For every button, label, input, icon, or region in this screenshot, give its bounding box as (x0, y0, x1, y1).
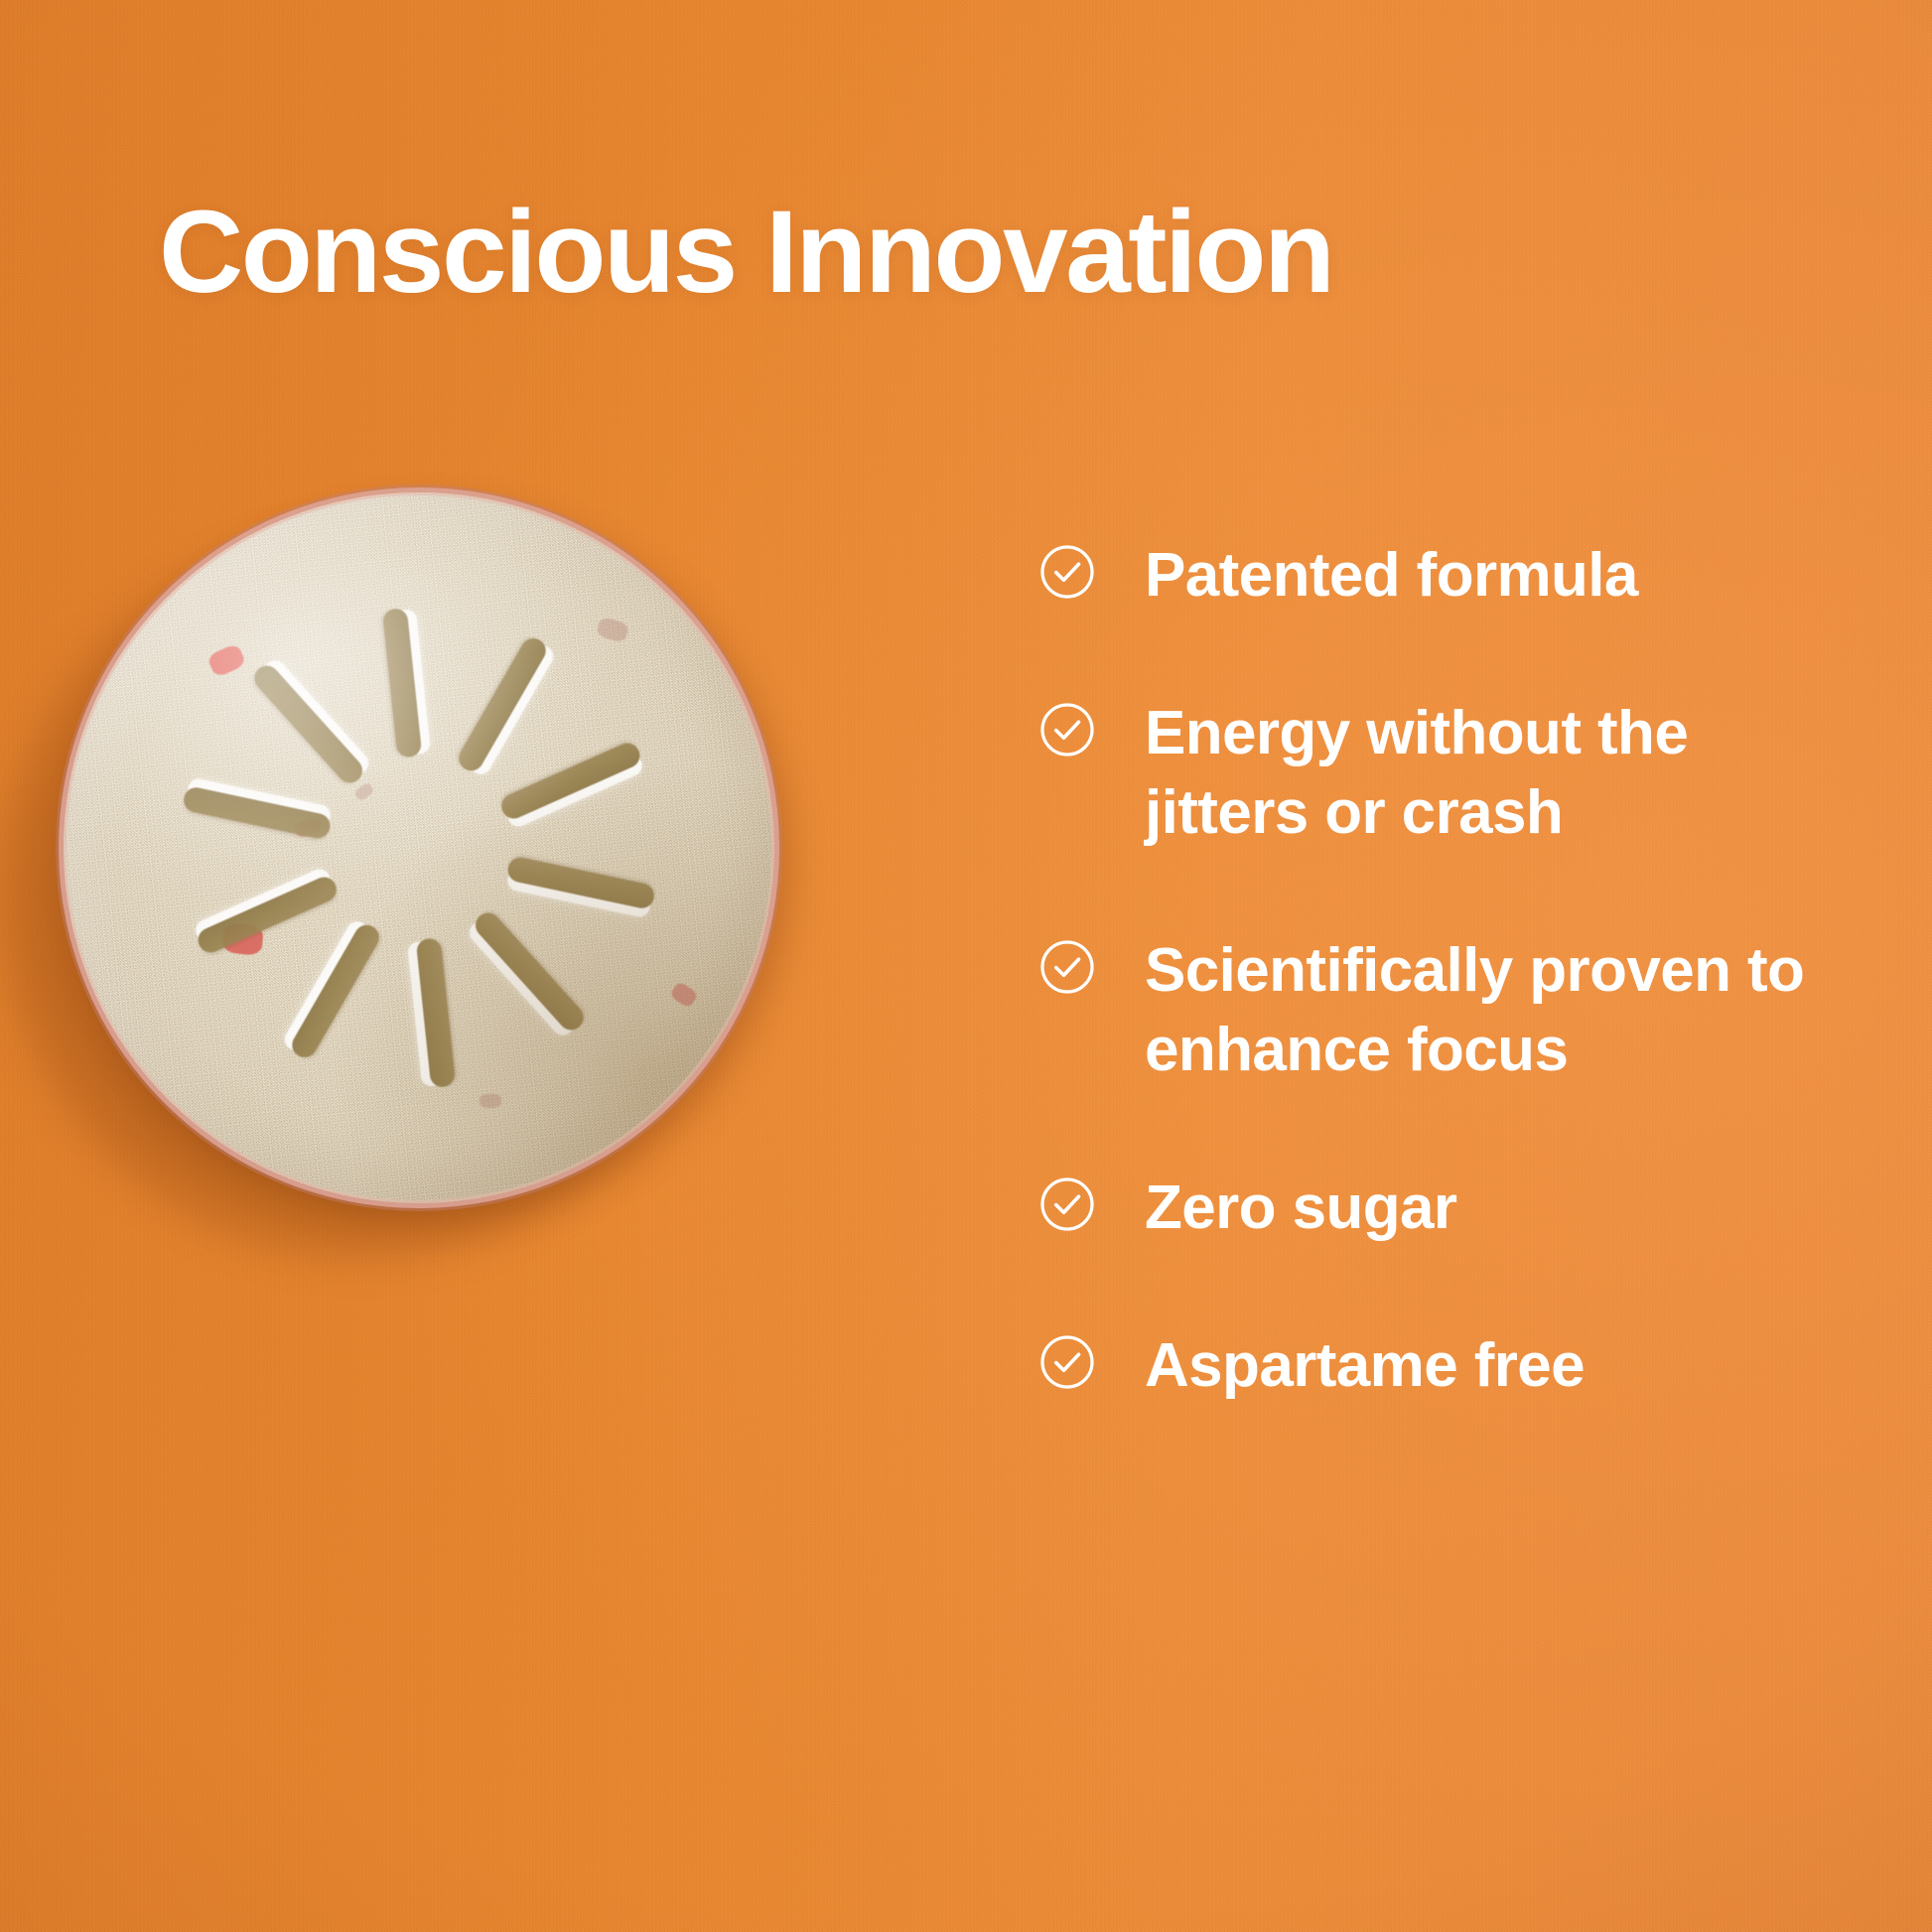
feature-label: Zero sugar (1145, 1169, 1456, 1249)
page-title: Conscious Innovation (159, 194, 1787, 311)
check-circle-icon (1037, 700, 1097, 759)
feature-label: Scientifically proven to enhance focus (1145, 931, 1840, 1091)
tablet-speckle (480, 1094, 501, 1108)
check-circle-icon (1037, 542, 1097, 602)
list-item: Scientifically proven to enhance focus (1037, 931, 1862, 1091)
marketing-graphic: Conscious Innovation (0, 0, 1932, 1932)
feature-label: Aspartame free (1145, 1326, 1585, 1407)
feature-label: Patented formula (1145, 536, 1638, 617)
list-item: Zero sugar (1037, 1169, 1862, 1249)
list-item: Aspartame free (1037, 1326, 1862, 1407)
list-item: Patented formula (1037, 536, 1862, 617)
list-item: Energy without the jitters or crash (1037, 694, 1862, 854)
product-image (20, 457, 804, 1241)
tablet-texture (29, 458, 810, 1239)
check-circle-icon (1037, 1174, 1097, 1234)
feature-list: Patented formula Energy without the jitt… (1037, 536, 1862, 1406)
check-circle-icon (1037, 1332, 1097, 1392)
tablet-disc (29, 458, 810, 1239)
check-circle-icon (1037, 937, 1097, 997)
feature-label: Energy without the jitters or crash (1145, 694, 1840, 854)
